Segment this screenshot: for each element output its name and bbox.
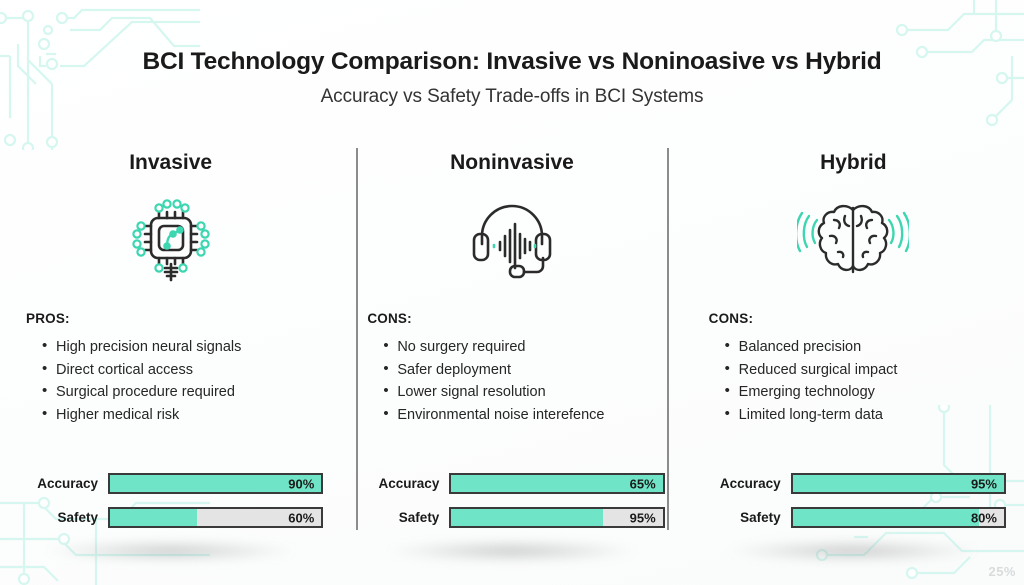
list-item: Safer deployment — [359, 359, 664, 382]
section-label-noninvasive: CONS: — [367, 311, 664, 326]
metric-label-accuracy: Accuracy — [359, 476, 449, 491]
comparison-column-hybrid: Hybrid — [683, 146, 1024, 536]
list-item: Reduced surgical impact — [701, 359, 1006, 382]
accuracy-progress-bar: 95% — [791, 473, 1006, 494]
list-item: Lower signal resolution — [359, 381, 664, 404]
accuracy-progress-bar: 65% — [449, 473, 664, 494]
list-item: Higher medical risk — [18, 404, 323, 427]
zoom-watermark: 25% — [988, 564, 1016, 579]
bar-fill — [793, 509, 979, 526]
accuracy-progress-bar: 90% — [108, 473, 323, 494]
bullet-list-invasive: High precision neural signals Direct cor… — [18, 336, 323, 426]
headset-icon — [359, 183, 664, 293]
comparison-columns: Invasive — [0, 146, 1024, 536]
metric-row: Safety 60% — [18, 507, 323, 528]
slide-header: BCI Technology Comparison: Invasive vs N… — [0, 48, 1024, 108]
list-item: Balanced precision — [701, 336, 1006, 359]
metric-row: Accuracy 95% — [701, 473, 1006, 494]
metric-row: Accuracy 65% — [359, 473, 664, 494]
metric-row: Safety 80% — [701, 507, 1006, 528]
accuracy-value: 95% — [971, 476, 997, 491]
column-shadow — [728, 540, 978, 562]
list-item: High precision neural signals — [18, 336, 323, 359]
bullet-list-hybrid: Balanced precision Reduced surgical impa… — [701, 336, 1006, 426]
metrics-invasive: Accuracy 90% Safety 60% — [18, 473, 323, 528]
safety-progress-bar: 80% — [791, 507, 1006, 528]
accuracy-value: 65% — [630, 476, 656, 491]
safety-value: 60% — [288, 510, 314, 525]
bar-fill — [451, 509, 603, 526]
microchip-icon — [18, 183, 323, 293]
safety-value: 80% — [971, 510, 997, 525]
column-title-noninvasive: Noninvasive — [359, 151, 664, 175]
comparison-column-noninvasive: Noninvasive — [341, 146, 682, 536]
metric-label-accuracy: Accuracy — [18, 476, 108, 491]
safety-value: 95% — [630, 510, 656, 525]
bullet-list-noninvasive: No surgery required Safer deployment Low… — [359, 336, 664, 426]
metric-row: Accuracy 90% — [18, 473, 323, 494]
column-shadow — [387, 540, 637, 562]
metric-label-safety: Safety — [18, 510, 108, 525]
list-item: No surgery required — [359, 336, 664, 359]
metrics-hybrid: Accuracy 95% Safety 80% — [701, 473, 1006, 528]
list-item: Surgical procedure required — [18, 381, 323, 404]
column-title-hybrid: Hybrid — [701, 151, 1006, 175]
metric-label-safety: Safety — [359, 510, 449, 525]
metric-label-safety: Safety — [701, 510, 791, 525]
safety-progress-bar: 60% — [108, 507, 323, 528]
section-label-invasive: PROS: — [26, 311, 323, 326]
bar-fill — [110, 509, 197, 526]
list-item: Environmental noise interefence — [359, 404, 664, 427]
list-item: Emerging technology — [701, 381, 1006, 404]
section-label-hybrid: CONS: — [709, 311, 1006, 326]
metrics-noninvasive: Accuracy 65% Safety 95% — [359, 473, 664, 528]
metric-row: Safety 95% — [359, 507, 664, 528]
list-item: Limited long-term data — [701, 404, 1006, 427]
column-shadow — [46, 540, 296, 562]
column-title-invasive: Invasive — [18, 151, 323, 175]
list-item: Direct cortical access — [18, 359, 323, 382]
brain-signal-icon — [701, 183, 1006, 293]
page-subtitle: Accuracy vs Safety Trade-offs in BCI Sys… — [0, 86, 1024, 108]
comparison-column-invasive: Invasive — [0, 146, 341, 536]
safety-progress-bar: 95% — [449, 507, 664, 528]
page-title: BCI Technology Comparison: Invasive vs N… — [0, 48, 1024, 76]
slide-canvas: BCI Technology Comparison: Invasive vs N… — [0, 0, 1024, 585]
accuracy-value: 90% — [288, 476, 314, 491]
metric-label-accuracy: Accuracy — [701, 476, 791, 491]
